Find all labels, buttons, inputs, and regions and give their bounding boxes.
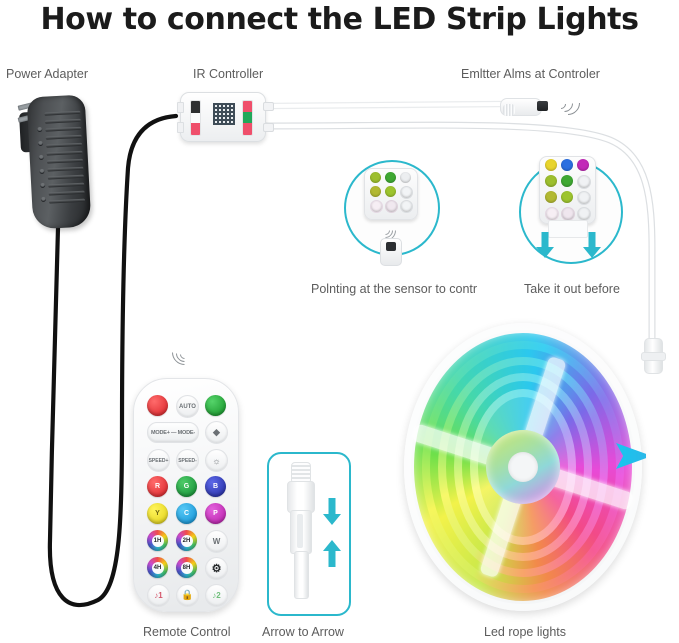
emitter-grip xyxy=(503,104,515,116)
caption-takeout: Take it out before xyxy=(524,282,620,296)
arrow-down-icon xyxy=(536,232,554,258)
controller-output xyxy=(263,123,274,132)
connector-pin xyxy=(297,514,303,548)
label-ir-controller: IR Controller xyxy=(193,67,263,81)
controller-output xyxy=(263,102,274,111)
remote-button-white[interactable]: W xyxy=(205,530,228,553)
ir-emitter xyxy=(500,95,560,117)
label-arrow-to-arrow: Arrow to Arrow xyxy=(262,625,344,639)
label-remote-control: Remote Control xyxy=(143,625,231,639)
remote-button-music-1[interactable]: ♪1 xyxy=(147,584,170,607)
led-rope-reel xyxy=(404,323,642,611)
timer-4h-label: 4H xyxy=(152,562,164,574)
indicator-strip-left xyxy=(190,100,201,136)
arrow-to-arrow-box xyxy=(267,452,351,616)
emitter-barrel xyxy=(500,98,542,116)
brightness-down-icon[interactable]: ☼ xyxy=(205,449,228,472)
remote-button-on[interactable] xyxy=(147,395,168,416)
remote-button-red[interactable]: R xyxy=(147,476,168,497)
ir-sensor xyxy=(380,238,402,266)
connector-collar xyxy=(641,352,666,361)
gear-icon[interactable]: ⚙ xyxy=(205,557,228,580)
remote-button-timer-4h[interactable]: 4H xyxy=(147,557,168,578)
sensor-window xyxy=(386,242,396,251)
adapter-body xyxy=(27,95,92,230)
connector-shell xyxy=(287,481,315,513)
remote-button-green[interactable]: G xyxy=(176,476,197,497)
remote-button-speed-minus[interactable]: SPEED- xyxy=(176,449,199,472)
label-led-rope-lights: Led rope lights xyxy=(484,625,566,639)
remote-button-speed-plus[interactable]: SPEED+ xyxy=(147,449,170,472)
callout-mini-remote xyxy=(364,168,418,220)
remote-button-purple[interactable]: P xyxy=(205,503,226,524)
remote-button-cyan[interactable]: C xyxy=(176,503,197,524)
remote-button-timer-1h[interactable]: 1H xyxy=(147,530,168,551)
connector-cable xyxy=(294,551,309,599)
controller-port xyxy=(177,102,184,113)
power-adapter xyxy=(18,88,90,233)
battery-pull-tab xyxy=(548,220,588,238)
callout-mini-remote-2 xyxy=(539,156,596,224)
arrow-up-icon xyxy=(323,540,341,568)
remote-control[interactable]: AUTO MODE+ — MODE- ◆ SPEED+ SPEED- ☼ R G… xyxy=(133,378,239,612)
caption-pointing: Polnting at the sensor to contr xyxy=(311,282,477,296)
controller-port xyxy=(177,122,184,133)
reel-rim xyxy=(404,323,642,611)
emitter-window xyxy=(537,101,548,111)
instruction-diagram: How to connect the LED Strip Lights Powe… xyxy=(0,0,679,643)
remote-button-timer-2h[interactable]: 2H xyxy=(176,530,197,551)
timer-2h-label: 2H xyxy=(181,535,193,547)
remote-button-off[interactable] xyxy=(205,395,226,416)
arrow-down-icon xyxy=(583,232,601,258)
label-emitter: Emltter Alms at Controler xyxy=(461,67,600,81)
remote-button-auto[interactable]: AUTO xyxy=(176,395,199,418)
brightness-up-icon[interactable]: ◆ xyxy=(205,421,228,444)
indicator-strip-right xyxy=(242,100,253,136)
remote-button-yellow[interactable]: Y xyxy=(147,503,168,524)
ir-controller xyxy=(180,92,266,142)
remote-button-mode[interactable]: MODE+ — MODE- xyxy=(147,422,199,443)
remote-button-timer-8h[interactable]: 8H xyxy=(176,557,197,578)
qr-code xyxy=(213,103,235,125)
label-power-adapter: Power Adapter xyxy=(6,67,88,81)
lock-icon[interactable]: 🔒 xyxy=(176,584,199,607)
remote-button-blue[interactable]: B xyxy=(205,476,226,497)
remote-button-music-2[interactable]: ♪2 xyxy=(205,584,228,607)
timer-8h-label: 8H xyxy=(181,562,193,574)
timer-1h-label: 1H xyxy=(152,535,164,547)
arrow-down-icon xyxy=(323,498,341,526)
